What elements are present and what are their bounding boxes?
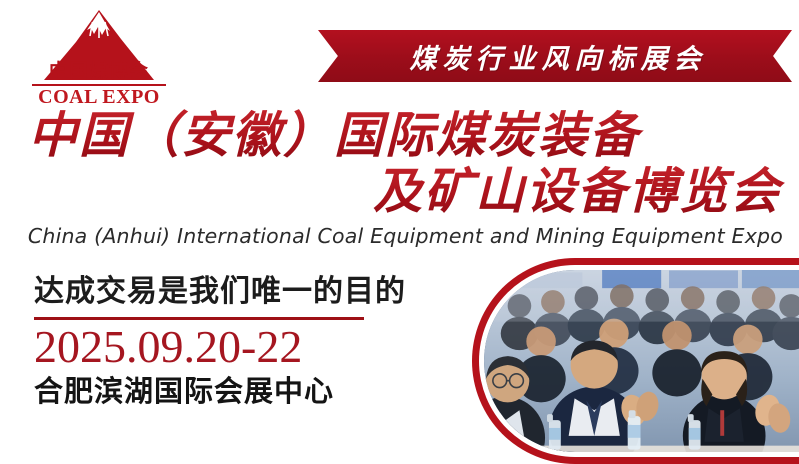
audience-photo [484, 270, 799, 452]
tagline: 达成交易是我们唯一的目的 [34, 272, 434, 312]
event-venue: 合肥滨湖国际会展中心 [34, 372, 434, 410]
audience-photo-illustration [484, 270, 799, 452]
info-divider [34, 317, 364, 320]
page-title: 中国（安徽）国际煤炭装备 及矿山设备博览会 [0, 108, 799, 220]
title-line-1: 中国（安徽）国际煤炭装备 [0, 108, 799, 164]
photo-frame [472, 258, 799, 464]
english-subtitle: China (Anhui) International Coal Equipme… [0, 224, 799, 248]
ribbon-banner: 煤炭行业风向标展会 [318, 30, 792, 82]
event-date: 2025.09.20-22 [34, 322, 434, 372]
event-info-block: 达成交易是我们唯一的目的 2025.09.20-22 合肥滨湖国际会展中心 [34, 272, 434, 410]
logo-english-name: COAL EXPO [24, 87, 174, 107]
title-line-2: 及矿山设备博览会 [0, 164, 799, 220]
ribbon-label: 煤炭行业风向标展会 [404, 37, 707, 76]
logo-chinese-name: 中国煤博会 [24, 62, 174, 81]
expo-poster: 中国煤博会 COAL EXPO 煤炭行业风向标展会 中国（安徽）国际煤炭装备 及… [0, 0, 799, 464]
coal-expo-logo[interactable]: 中国煤博会 COAL EXPO [24, 8, 174, 106]
